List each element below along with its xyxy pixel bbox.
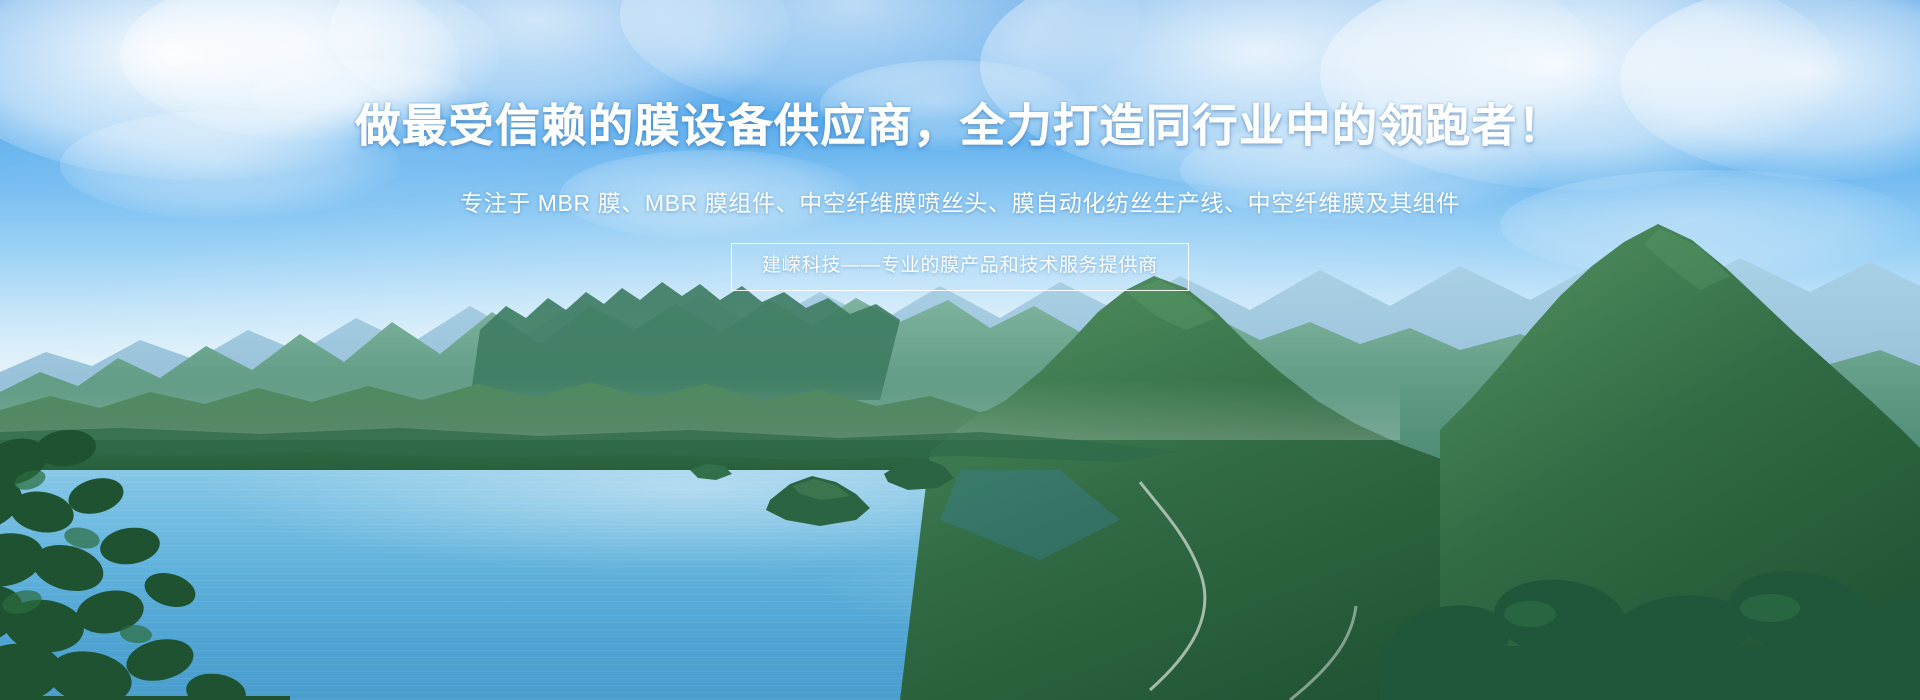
foliage-base <box>1380 646 1920 700</box>
leaf-cluster <box>141 567 200 612</box>
leaf-cluster <box>44 645 136 700</box>
banner-subline: 专注于 MBR 膜、MBR 膜组件、中空纤维膜喷丝头、膜自动化纺丝生产线、中空纤… <box>0 186 1920 220</box>
hero-banner: 做最受信赖的膜设备供应商，全力打造同行业中的领跑者！ 专注于 MBR 膜、MBR… <box>0 0 1920 700</box>
leaf-cluster <box>184 670 248 700</box>
leaf-highlight <box>1504 601 1556 627</box>
leaf-cluster <box>65 473 128 520</box>
banner-tagline-box: 建嵘科技——专业的膜产品和技术服务提供商 <box>731 243 1189 291</box>
foliage-base <box>0 696 290 700</box>
leaf-cluster <box>98 524 162 568</box>
foreground-foliage-right <box>1380 450 1920 700</box>
tagline-container: 建嵘科技——专业的膜产品和技术服务提供商 <box>0 243 1920 291</box>
banner-headline: 做最受信赖的膜设备供应商，全力打造同行业中的领跑者！ <box>0 98 1920 154</box>
foreground-foliage-left <box>0 420 390 700</box>
leaf-highlight <box>1740 594 1800 622</box>
